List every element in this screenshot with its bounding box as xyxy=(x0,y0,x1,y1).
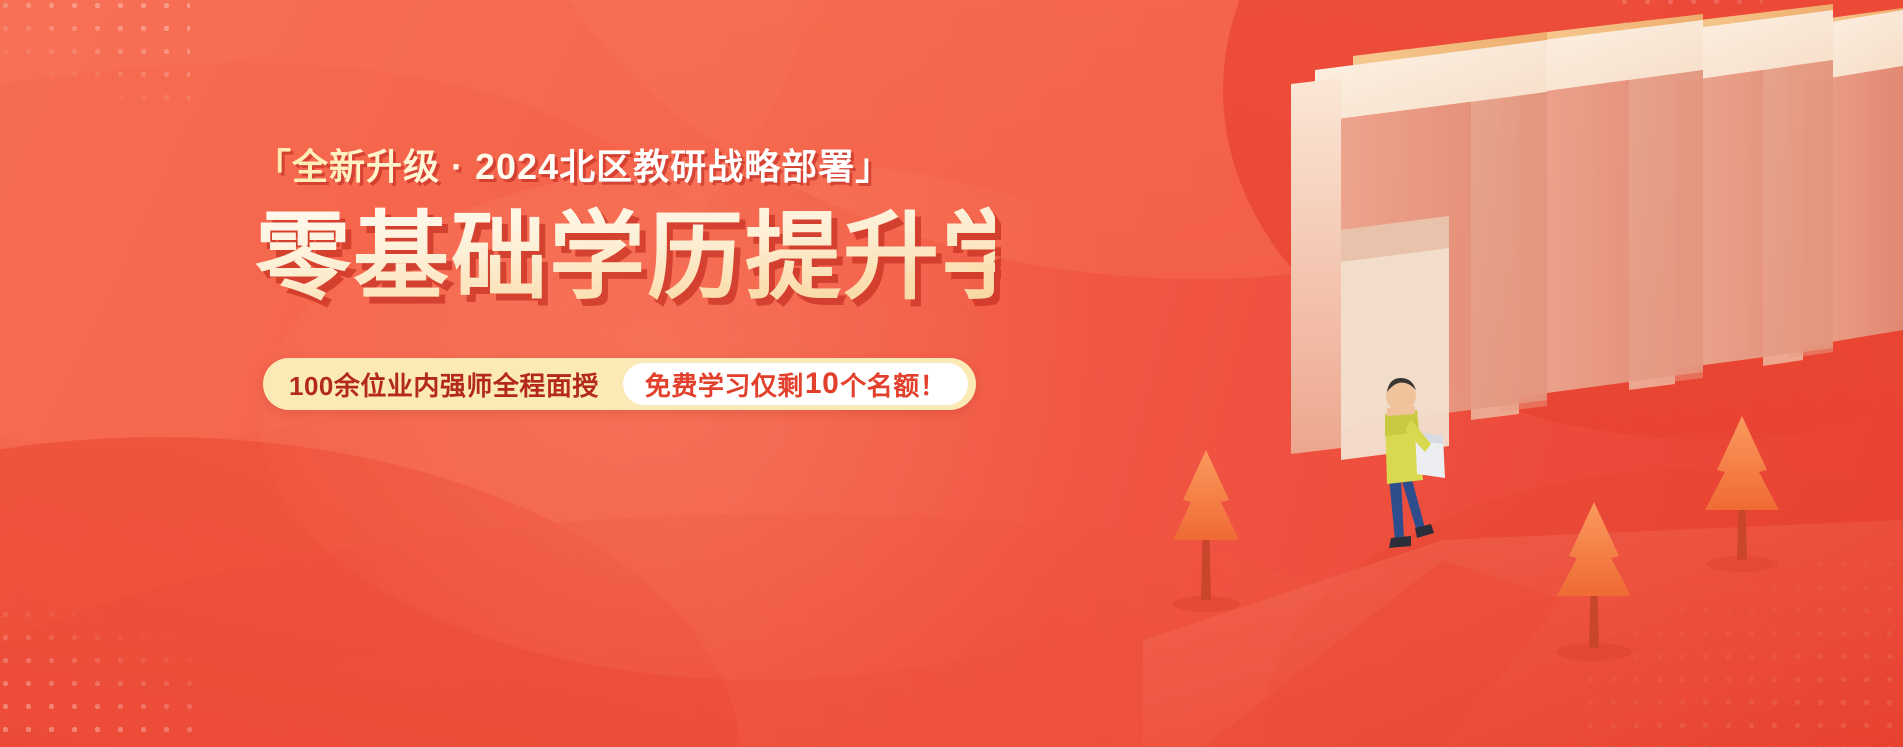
book-arch-1 xyxy=(1291,32,1547,460)
book-arch-illustration xyxy=(1143,0,1903,747)
subtitle-open-bracket: 「 xyxy=(255,146,292,187)
subtitle-close-bracket: 」 xyxy=(855,146,892,187)
pill-teachers-label: 100余位业内强师全程面授 xyxy=(289,366,623,403)
pill-seats-suffix: 个名额！ xyxy=(840,366,946,403)
pill-seats-count: 10 xyxy=(804,367,840,401)
dot-pattern-bottom-left xyxy=(0,603,204,747)
page-title: 零基础学历提升学霸班 xyxy=(255,206,995,310)
headline-copy-block: 「全新升级 · 2024北区教研战略部署」 零基础学历提升学霸班 xyxy=(255,146,995,310)
pill-seats-badge: 免费学习仅剩10个名额！ xyxy=(623,363,968,405)
highlight-pill: 100余位业内强师全程面授 免费学习仅剩10个名额！ xyxy=(263,358,976,410)
promo-banner: 「全新升级 · 2024北区教研战略部署」 零基础学历提升学霸班 100余位业内… xyxy=(0,0,1903,747)
pill-seats-prefix: 免费学习仅剩 xyxy=(645,366,804,403)
stylized-orange-tree-left xyxy=(1172,450,1240,612)
subtitle: 「全新升级 · 2024北区教研战略部署」 xyxy=(255,146,995,188)
dot-pattern-top-left xyxy=(0,0,190,106)
background-wave-bottom-left xyxy=(0,437,740,747)
subtitle-text: 全新升级 · 2024北区教研战略部署 xyxy=(292,146,855,187)
